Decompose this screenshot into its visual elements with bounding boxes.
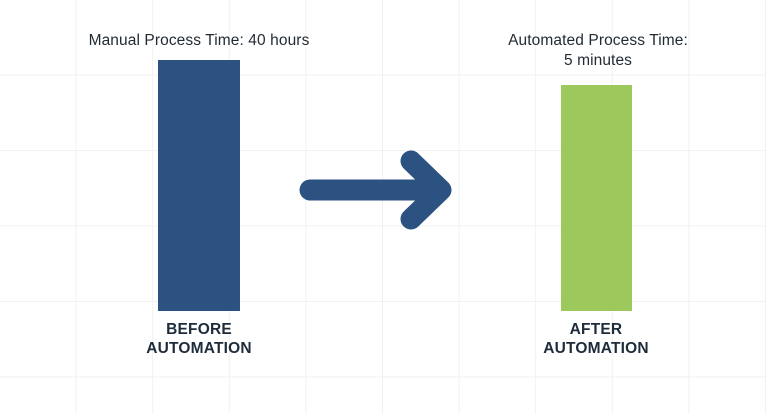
transition-arrow [293,150,458,230]
bar-before-automation [158,60,240,311]
infographic-canvas: Manual Process Time: 40 hours Automated … [0,0,766,414]
axis-label-after: AFTER AUTOMATION [491,320,701,358]
bar-after-automation [561,85,632,311]
axis-label-before: BEFORE AUTOMATION [94,320,304,358]
caption-before: Manual Process Time: 40 hours [44,31,354,51]
caption-after: Automated Process Time: 5 minutes [453,31,743,71]
arrow-right-icon [293,150,458,230]
